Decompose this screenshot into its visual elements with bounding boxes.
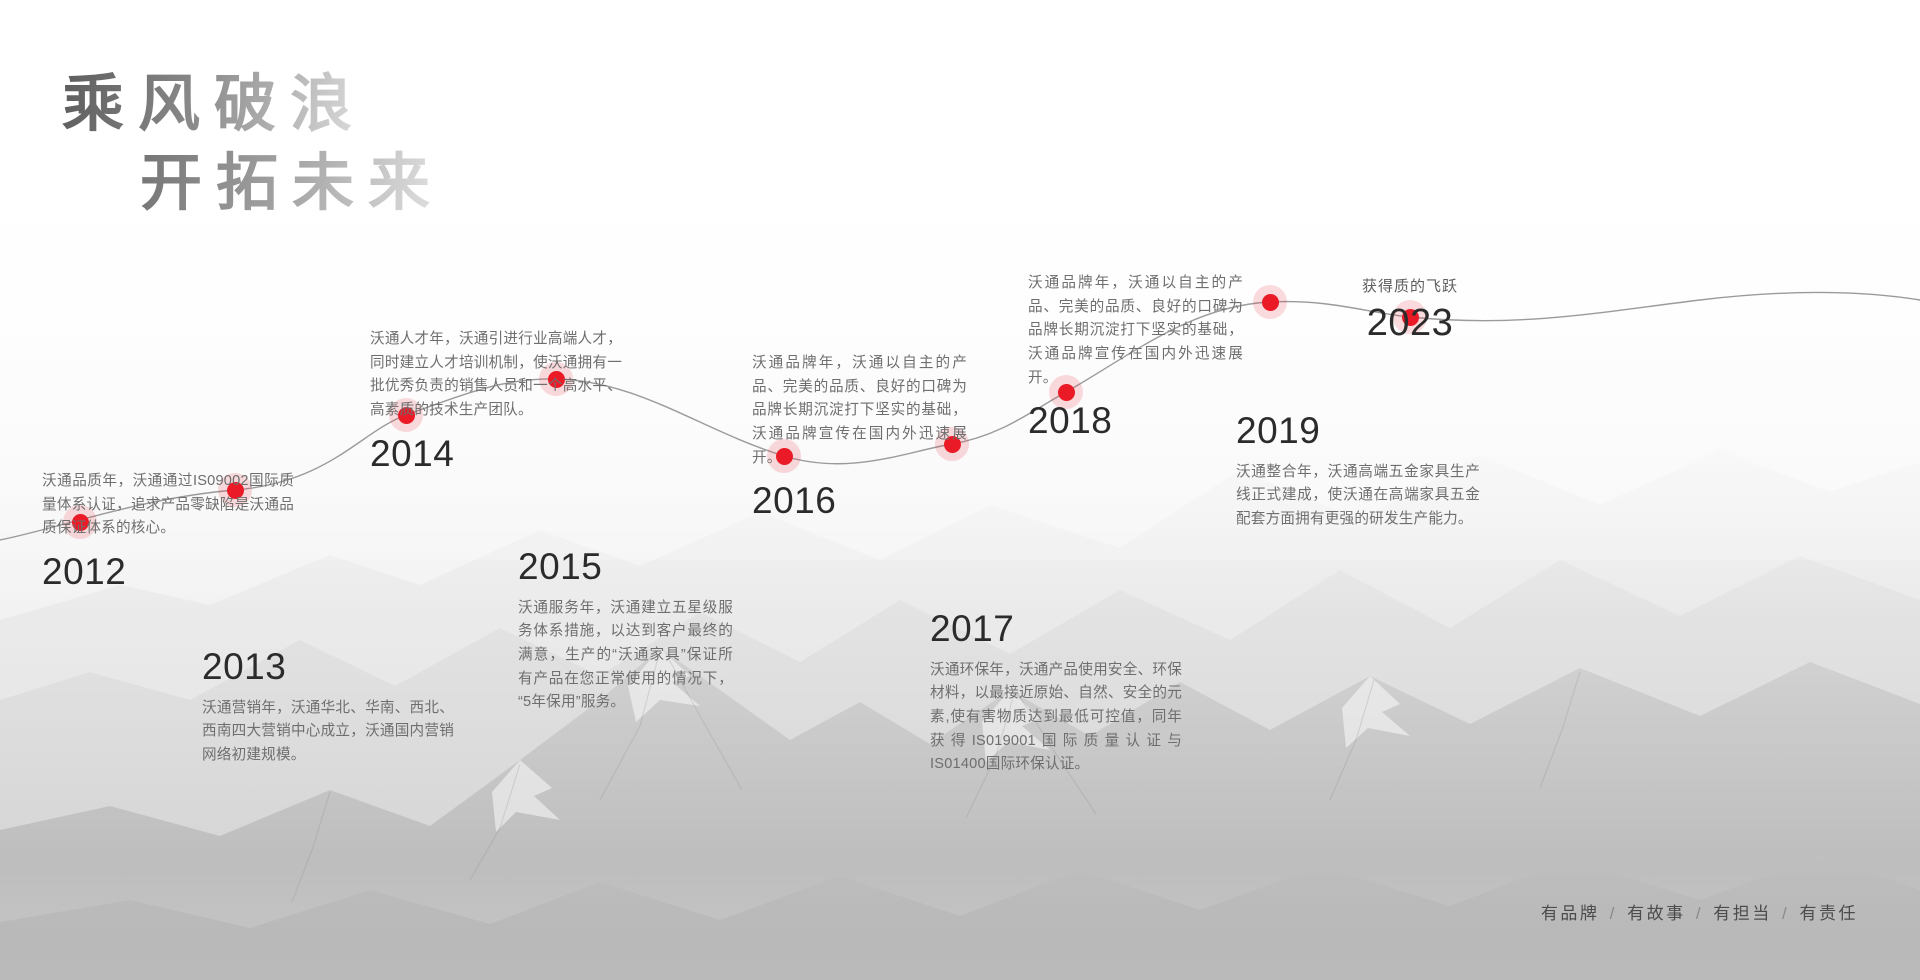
milestone-2013-year: 2013 xyxy=(202,648,454,687)
milestone-2016-year: 2016 xyxy=(752,482,967,521)
tagline-separator-1: / xyxy=(1607,904,1620,923)
milestone-2012-year: 2012 xyxy=(42,553,294,592)
milestone-2014-year: 2014 xyxy=(370,435,622,474)
milestone-2013[interactable]: 2013 沃通营销年，沃通华北、华南、西北、西南四大营销中心成立，沃通国内营销网… xyxy=(202,648,454,768)
headline-line-1: 乘风破浪 xyxy=(62,66,702,145)
milestone-2017-year: 2017 xyxy=(930,610,1182,649)
tagline-item-2: 有故事 xyxy=(1627,904,1686,923)
milestone-2018[interactable]: 沃通品牌年，沃通以自主的产品、完美的品质、良好的口碑为品牌长期沉淀打下坚实的基础… xyxy=(1028,272,1243,441)
milestone-2019-desc: 沃通整合年，沃通高端五金家具生产线正式建成，使沃通在高端家具五金配套方面拥有更强… xyxy=(1236,461,1480,532)
footer-tagline: 有品牌 / 有故事 / 有担当 / 有责任 xyxy=(1541,899,1858,924)
milestone-2016-desc: 沃通品牌年，沃通以自主的产品、完美的品质、良好的口碑为品牌长期沉淀打下坚实的基础… xyxy=(752,352,967,470)
milestone-2015-year: 2015 xyxy=(518,548,733,587)
milestone-2023-caption: 获得质的飞跃 xyxy=(1300,275,1520,296)
milestone-2019-year: 2019 xyxy=(1236,412,1480,451)
headline-line-2: 开拓未来 xyxy=(140,145,702,224)
milestone-2019[interactable]: 2019 沃通整合年，沃通高端五金家具生产线正式建成，使沃通在高端家具五金配套方… xyxy=(1236,412,1480,532)
timeline-node-2019[interactable] xyxy=(1253,285,1287,319)
tagline-separator-2: / xyxy=(1693,904,1706,923)
milestone-2016[interactable]: 沃通品牌年，沃通以自主的产品、完美的品质、良好的口碑为品牌长期沉淀打下坚实的基础… xyxy=(752,352,967,521)
milestone-2018-desc: 沃通品牌年，沃通以自主的产品、完美的品质、良好的口碑为品牌长期沉淀打下坚实的基础… xyxy=(1028,272,1243,390)
page-title: 乘风破浪 开拓未来 xyxy=(62,66,702,225)
milestone-2014-desc: 沃通人才年，沃通引进行业高端人才，同时建立人才培训机制，使沃通拥有一批优秀负责的… xyxy=(370,328,622,423)
milestone-2012[interactable]: 沃通品质年，沃通通过IS09002国际质量体系认证，追求产品零缺陷是沃通品质保证… xyxy=(42,470,294,592)
timeline-poster: 乘风破浪 开拓未来 沃通品质年，沃通通过IS09002国际质量体系认证，追求产品… xyxy=(0,0,1920,980)
milestone-2013-desc: 沃通营销年，沃通华北、华南、西北、西南四大营销中心成立，沃通国内营销网络初建规模… xyxy=(202,697,454,768)
milestone-2018-year: 2018 xyxy=(1028,402,1243,441)
milestone-2014[interactable]: 沃通人才年，沃通引进行业高端人才，同时建立人才培训机制，使沃通拥有一批优秀负责的… xyxy=(370,328,622,473)
milestone-2015[interactable]: 2015 沃通服务年，沃通建立五星级服务体系措施，以达到客户最终的满意，生产的“… xyxy=(518,548,733,715)
milestone-2015-desc: 沃通服务年，沃通建立五星级服务体系措施，以达到客户最终的满意，生产的“沃通家具”… xyxy=(518,597,733,715)
tagline-separator-3: / xyxy=(1779,904,1792,923)
milestone-2023[interactable]: 获得质的飞跃 2023 xyxy=(1300,275,1520,344)
milestone-2017[interactable]: 2017 沃通环保年，沃通产品使用安全、环保材料，以最接近原始、自然、安全的元素… xyxy=(930,610,1182,777)
tagline-item-3: 有担当 xyxy=(1713,904,1772,923)
milestone-2012-desc: 沃通品质年，沃通通过IS09002国际质量体系认证，追求产品零缺陷是沃通品质保证… xyxy=(42,470,294,541)
tagline-item-1: 有品牌 xyxy=(1541,904,1600,923)
tagline-item-4: 有责任 xyxy=(1800,904,1859,923)
milestone-2017-desc: 沃通环保年，沃通产品使用安全、环保材料，以最接近原始、自然、安全的元素,使有害物… xyxy=(930,659,1182,777)
milestone-2023-year: 2023 xyxy=(1300,304,1520,344)
